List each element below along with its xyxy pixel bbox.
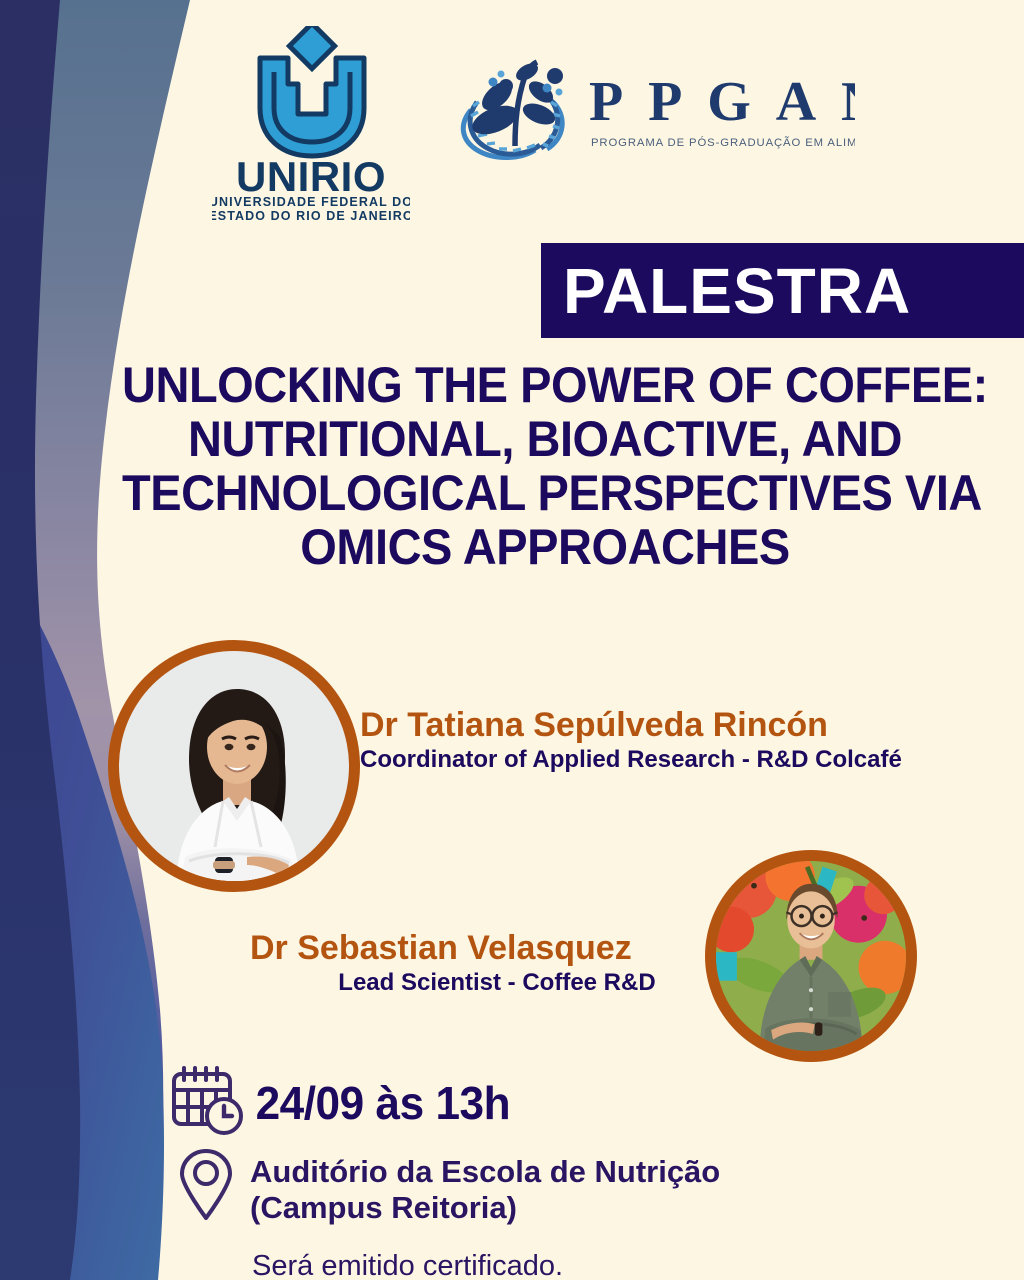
speaker-1-avatar [108, 640, 360, 892]
ppgan-wordmark: P P G A N [589, 71, 855, 133]
speaker-2-role: Lead Scientist - Coffee R&D [250, 968, 700, 998]
ppgan-subtitle: PROGRAMA DE PÓS-GRADUAÇÃO EM ALIMENTOS E… [591, 136, 855, 149]
certificate-note: Será emitido certificado. [168, 1226, 868, 1280]
unirio-subtitle-line1: UNIVERSIDADE FEDERAL DO [212, 195, 410, 209]
speaker-1-info: Dr Tatiana Sepúlveda Rincón Coordinator … [360, 705, 990, 775]
unirio-wordmark: UNIRIO [236, 153, 386, 200]
speaker-2-info: Dr Sebastian Velasquez Lead Scientist - … [250, 928, 700, 998]
location-line-1: Auditório da Escola de Nutrição [250, 1154, 720, 1190]
portrait-woman-illustration [119, 651, 349, 881]
title-line-2: NUTRITIONAL, BIOACTIVE, AND [122, 412, 968, 466]
plant-dna-helix-icon [463, 60, 563, 158]
title-line-4: OMICS APPROACHES [122, 520, 968, 574]
palestra-banner: PALESTRA [541, 243, 1024, 338]
unirio-logo: UNIRIO UNIVERSIDADE FEDERAL DO ESTADO DO… [212, 26, 410, 221]
ppgan-logo: P P G A N PROGRAMA DE PÓS-GRADUAÇÃO EM A… [443, 58, 855, 168]
speaker-2-photo [716, 861, 906, 1051]
page-title: UNLOCKING THE POWER OF COFFEE: NUTRITION… [122, 358, 968, 574]
logo-row: UNIRIO UNIVERSIDADE FEDERAL DO ESTADO DO… [0, 18, 1024, 218]
event-datetime: 24/09 às 13h [246, 1062, 510, 1126]
speaker-1-role: Coordinator of Applied Research - R&D Co… [360, 745, 990, 775]
speaker-1-photo [119, 651, 349, 881]
location-line-2: (Campus Reitoria) [250, 1190, 720, 1226]
calendar-clock-icon [168, 1062, 246, 1138]
unirio-subtitle-line2: ESTADO DO RIO DE JANEIRO [212, 209, 410, 221]
unirio-u-mark-icon: UNIRIO UNIVERSIDADE FEDERAL DO ESTADO DO… [212, 26, 410, 221]
title-line-1: UNLOCKING THE POWER OF COFFEE: [122, 358, 968, 412]
palestra-label: PALESTRA [541, 259, 911, 323]
speaker-2-avatar [705, 850, 917, 1062]
datetime-row: 24/09 às 13h [168, 1062, 868, 1138]
map-pin-icon [176, 1148, 236, 1222]
event-poster: UNIRIO UNIVERSIDADE FEDERAL DO ESTADO DO… [0, 0, 1024, 1280]
title-line-3: TECHNOLOGICAL PERSPECTIVES VIA [122, 466, 968, 520]
portrait-man-illustration [716, 861, 906, 1051]
event-info: 24/09 às 13h Auditório da Escola de Nutr… [168, 1062, 868, 1280]
speaker-2-name: Dr Sebastian Velasquez [250, 928, 700, 968]
event-location: Auditório da Escola de Nutrição (Campus … [236, 1148, 720, 1226]
speaker-1-name: Dr Tatiana Sepúlveda Rincón [360, 705, 990, 745]
location-row: Auditório da Escola de Nutrição (Campus … [168, 1148, 868, 1226]
ppgan-logo-svg: P P G A N PROGRAMA DE PÓS-GRADUAÇÃO EM A… [443, 58, 855, 168]
